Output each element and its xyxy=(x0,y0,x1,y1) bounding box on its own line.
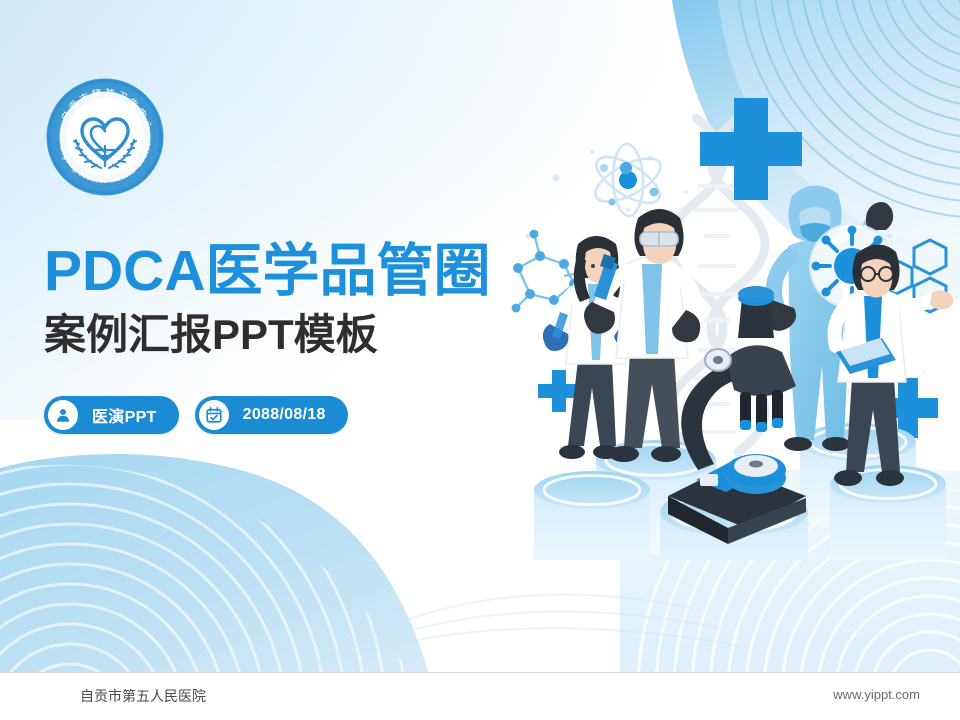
footer: 自贡市第五人民医院 www.yippt.com xyxy=(0,673,960,720)
page-subtitle: 案例汇报PPT模板 xyxy=(44,313,564,357)
goggles-icon xyxy=(640,232,678,246)
logo-mark: 自贡市精神卫生中心 Zigong Mental Health Center xyxy=(46,78,164,196)
molecule-atom xyxy=(589,143,667,216)
presentation-title-slide: 自贡市精神卫生中心 Zigong Mental Health Center xyxy=(0,0,960,720)
footer-organization: 自贡市第五人民医院 xyxy=(80,686,206,706)
status-badge-date[interactable]: 2088/08/18 xyxy=(195,396,348,434)
calendar-icon xyxy=(199,400,229,430)
page-title: PDCA医学品管圈 xyxy=(44,242,564,301)
person-icon xyxy=(48,400,78,430)
title-block: PDCA医学品管圈 案例汇报PPT模板 xyxy=(44,242,564,357)
status-badge-author[interactable]: 医演PPT xyxy=(44,396,179,434)
badge-label-author: 医演PPT xyxy=(92,403,157,427)
meta-badges: 医演PPT 2088/08/18 xyxy=(44,396,348,434)
hospital-logo: 自贡市精神卫生中心 Zigong Mental Health Center xyxy=(46,78,164,196)
footer-website[interactable]: www.yippt.com xyxy=(833,687,920,702)
badge-label-date: 2088/08/18 xyxy=(243,406,326,424)
medical-research-team-illustration xyxy=(500,60,960,560)
